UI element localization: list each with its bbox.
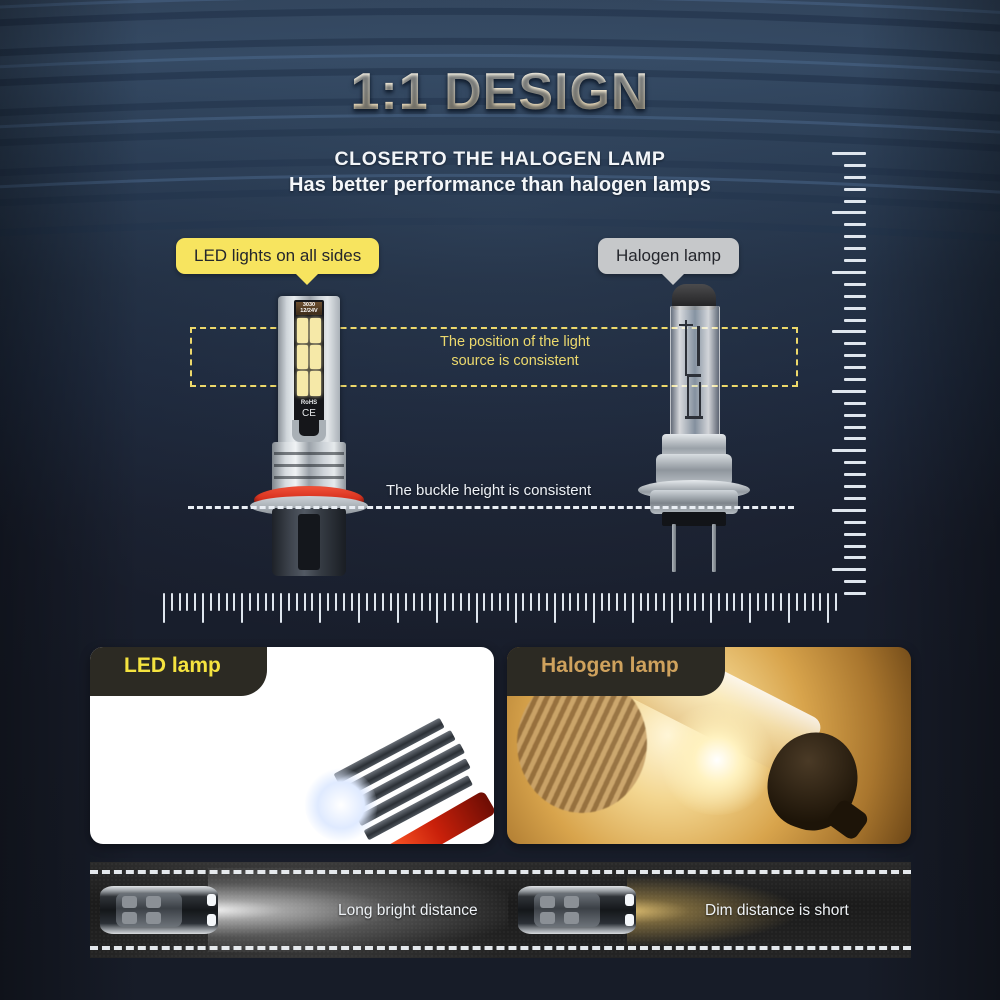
ruler-tick — [483, 593, 485, 611]
car-led — [100, 886, 218, 934]
ruler-tick — [844, 319, 866, 322]
ruler-tick — [844, 414, 866, 417]
ruler-tick — [382, 593, 384, 611]
ruler-tick — [444, 593, 446, 611]
led-chip — [297, 345, 308, 370]
ruler-tick — [538, 593, 540, 611]
led-chip-marking: 3030 12/24V — [296, 302, 322, 315]
ruler-tick — [844, 485, 866, 488]
ruler-tick — [241, 593, 243, 623]
ruler-tick — [741, 593, 743, 611]
ruler-tick — [280, 593, 282, 623]
ruler-tick — [844, 188, 866, 191]
ruler-tick — [835, 593, 837, 611]
ruler-tick — [562, 593, 564, 611]
ruler-tick — [832, 509, 866, 512]
ce-mark: CE — [296, 408, 322, 419]
ruler-tick — [812, 593, 814, 611]
ruler-tick — [530, 593, 532, 611]
ruler-tick — [296, 593, 298, 611]
ruler-tick — [577, 593, 579, 611]
ruler-tick — [832, 568, 866, 571]
ruler-tick — [749, 593, 751, 623]
led-slot — [292, 420, 326, 442]
ruler-tick — [647, 593, 649, 611]
ruler-tick — [640, 593, 642, 611]
ruler-tick — [593, 593, 595, 623]
ruler-tick — [343, 593, 345, 611]
halogen-base-ring — [650, 490, 738, 514]
ruler-tick — [186, 593, 188, 611]
light-source-line-2: source is consistent — [400, 352, 630, 371]
halogen-distance-caption: Dim distance is short — [705, 902, 849, 920]
ruler-tick — [832, 390, 866, 393]
ruler-tick — [546, 593, 548, 611]
ruler-tick — [844, 366, 866, 369]
ruler-tick — [358, 593, 360, 623]
callout-led-label: LED lights on all sides — [194, 246, 361, 265]
road-comparison-strip: Long bright distance Dim distance is sho… — [90, 862, 911, 958]
ruler-tick — [616, 593, 618, 611]
ruler-tick — [585, 593, 587, 611]
light-source-annotation: The position of the light source is cons… — [400, 333, 630, 371]
ruler-tick — [327, 593, 329, 611]
ruler-tick — [710, 593, 712, 623]
ruler-tick — [844, 378, 866, 381]
ruler-tick — [421, 593, 423, 611]
ruler-tick — [499, 593, 501, 611]
ruler-tick — [304, 593, 306, 611]
rohs-mark: RoHS — [296, 400, 322, 406]
ruler-tick — [429, 593, 431, 611]
ruler-tick — [844, 497, 866, 500]
ruler-tick — [788, 593, 790, 623]
page-title: 1:1 DESIGN — [0, 62, 1000, 122]
ruler-tick — [757, 593, 759, 611]
halogen-pin — [672, 524, 676, 572]
ruler-tick — [179, 593, 181, 611]
ruler-tick — [194, 593, 196, 611]
ruler-tick — [468, 593, 470, 611]
led-chip — [310, 345, 321, 370]
ruler-tick — [374, 593, 376, 611]
ruler-tick — [780, 593, 782, 611]
ruler-tick — [772, 593, 774, 611]
ruler-tick — [655, 593, 657, 611]
ruler-tick — [819, 593, 821, 611]
ruler-tick — [718, 593, 720, 611]
car-halogen — [518, 886, 636, 934]
ruler-tick — [687, 593, 689, 611]
horizontal-ruler — [163, 593, 835, 625]
ruler-tick — [460, 593, 462, 611]
ruler-tick — [476, 593, 478, 623]
ruler-tick — [844, 164, 866, 167]
ruler-tick — [765, 593, 767, 611]
halogen-panel-tab: Halogen lamp — [507, 647, 725, 696]
halogen-filament-flare — [657, 705, 777, 815]
led-bulb-illustration: 3030 12/24V RoHS CE — [248, 296, 372, 584]
ruler-tick — [397, 593, 399, 623]
ruler-tick — [844, 235, 866, 238]
ruler-tick — [202, 593, 204, 623]
ruler-tick — [632, 593, 634, 623]
ruler-tick — [507, 593, 509, 611]
ruler-tick — [694, 593, 696, 611]
led-panel-label: LED lamp — [124, 654, 221, 677]
ruler-tick — [844, 295, 866, 298]
ruler-tick — [249, 593, 251, 611]
light-source-line-1: The position of the light — [400, 333, 630, 352]
ruler-tick — [272, 593, 274, 611]
ruler-tick — [210, 593, 212, 611]
ruler-tick — [522, 593, 524, 611]
ruler-tick — [319, 593, 321, 623]
ruler-tick — [554, 593, 556, 623]
callout-halogen-label: Halogen lamp — [616, 246, 721, 265]
vertical-ruler — [818, 152, 866, 604]
ruler-tick — [844, 426, 866, 429]
ruler-tick — [608, 593, 610, 611]
callout-tail-icon — [294, 272, 320, 285]
ruler-tick — [832, 449, 866, 452]
led-panel-tab: LED lamp — [90, 647, 267, 696]
ruler-tick — [844, 223, 866, 226]
ruler-tick — [844, 580, 866, 583]
led-chip-line-2: 12/24V — [296, 308, 322, 314]
led-chip — [310, 318, 321, 343]
ruler-tick — [413, 593, 415, 611]
ruler-tick — [796, 593, 798, 611]
ruler-tick — [832, 211, 866, 214]
ruler-tick — [663, 593, 665, 611]
ruler-tick — [226, 593, 228, 611]
ruler-tick — [844, 283, 866, 286]
ruler-tick — [257, 593, 259, 611]
ruler-tick — [832, 271, 866, 274]
halogen-glass-envelope — [670, 306, 720, 438]
ruler-tick — [844, 247, 866, 250]
halogen-photo-panel: Halogen lamp — [507, 647, 911, 844]
ruler-tick — [844, 556, 866, 559]
led-chip-grid — [297, 318, 321, 396]
led-chip — [297, 318, 308, 343]
ruler-tick — [844, 259, 866, 262]
ruler-tick — [163, 593, 165, 623]
ruler-tick — [569, 593, 571, 611]
led-photo-panel: LED lamp — [90, 647, 494, 844]
buckle-annotation: The buckle height is consistent — [386, 482, 591, 499]
ruler-tick — [452, 593, 454, 611]
ruler-tick — [832, 330, 866, 333]
ruler-tick — [844, 342, 866, 345]
ruler-tick — [844, 176, 866, 179]
ruler-tick — [601, 593, 603, 611]
ruler-tick — [844, 533, 866, 536]
ruler-tick — [679, 593, 681, 611]
ruler-tick — [804, 593, 806, 611]
led-chip — [297, 371, 308, 396]
ruler-tick — [827, 593, 829, 623]
callout-led-lights: LED lights on all sides — [176, 238, 379, 274]
ruler-tick — [491, 593, 493, 611]
ruler-tick — [233, 593, 235, 611]
callout-halogen-lamp: Halogen lamp — [598, 238, 739, 274]
ruler-tick — [844, 437, 866, 440]
ruler-tick — [436, 593, 438, 623]
ruler-tick — [733, 593, 735, 611]
led-chip — [310, 371, 321, 396]
ruler-tick — [335, 593, 337, 611]
ruler-tick — [218, 593, 220, 611]
ruler-tick — [844, 545, 866, 548]
ruler-tick — [265, 593, 267, 611]
ruler-tick — [844, 402, 866, 405]
ruler-tick — [844, 461, 866, 464]
ruler-tick — [390, 593, 392, 611]
ruler-tick — [624, 593, 626, 611]
ruler-tick — [844, 521, 866, 524]
ruler-tick — [171, 593, 173, 611]
ruler-tick — [311, 593, 313, 611]
halogen-pin — [712, 524, 716, 572]
ruler-tick — [702, 593, 704, 611]
ruler-tick — [405, 593, 407, 611]
halogen-panel-label: Halogen lamp — [541, 654, 679, 677]
led-distance-caption: Long bright distance — [338, 902, 478, 920]
buckle-height-line — [188, 506, 794, 509]
ruler-tick — [844, 354, 866, 357]
ruler-tick — [351, 593, 353, 611]
ruler-tick — [288, 593, 290, 611]
ruler-tick — [366, 593, 368, 611]
ruler-tick — [832, 152, 866, 155]
infographic-canvas: 1:1 DESIGN CLOSERTO THE HALOGEN LAMP Has… — [0, 0, 1000, 1000]
ruler-tick — [726, 593, 728, 611]
led-connector-base — [272, 508, 346, 576]
ruler-tick — [671, 593, 673, 623]
ruler-tick — [515, 593, 517, 623]
ruler-tick — [844, 592, 866, 595]
ruler-tick — [844, 473, 866, 476]
ruler-tick — [844, 200, 866, 203]
halogen-bulb-illustration — [636, 284, 752, 584]
ruler-tick — [844, 307, 866, 310]
